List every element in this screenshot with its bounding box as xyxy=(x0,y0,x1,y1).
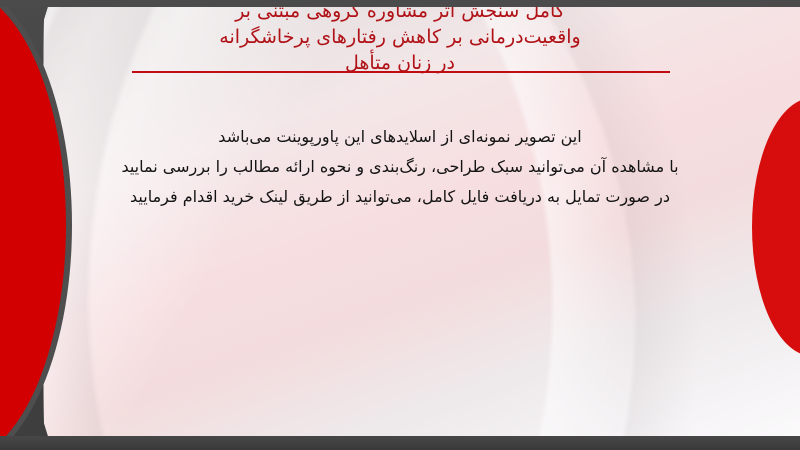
slide-bottom-frame-band xyxy=(0,436,800,450)
presentation-slide: کامل سنجش اثر مشاوره گروهی مبتنی بر واقع… xyxy=(0,0,800,450)
title-divider-rule xyxy=(132,71,670,73)
slide-top-frame-band xyxy=(0,0,800,7)
slide-body-line-2: با مشاهده آن می‌توانید سبک طراحی، رنگ‌بن… xyxy=(100,152,700,182)
slide-body-text: این تصویر نمونه‌ای از اسلایدهای این پاور… xyxy=(100,122,700,212)
slide-title: کامل سنجش اثر مشاوره گروهی مبتنی بر واقع… xyxy=(120,0,680,76)
slide-content: کامل سنجش اثر مشاوره گروهی مبتنی بر واقع… xyxy=(0,0,800,450)
slide-body-line-1: این تصویر نمونه‌ای از اسلایدهای این پاور… xyxy=(100,122,700,152)
slide-title-line-2: واقعیت‌درمانی بر کاهش رفتارهای پرخاشگران… xyxy=(120,24,680,50)
slide-body-line-3: در صورت تمایل به دریافت فایل کامل، می‌تو… xyxy=(100,182,700,212)
